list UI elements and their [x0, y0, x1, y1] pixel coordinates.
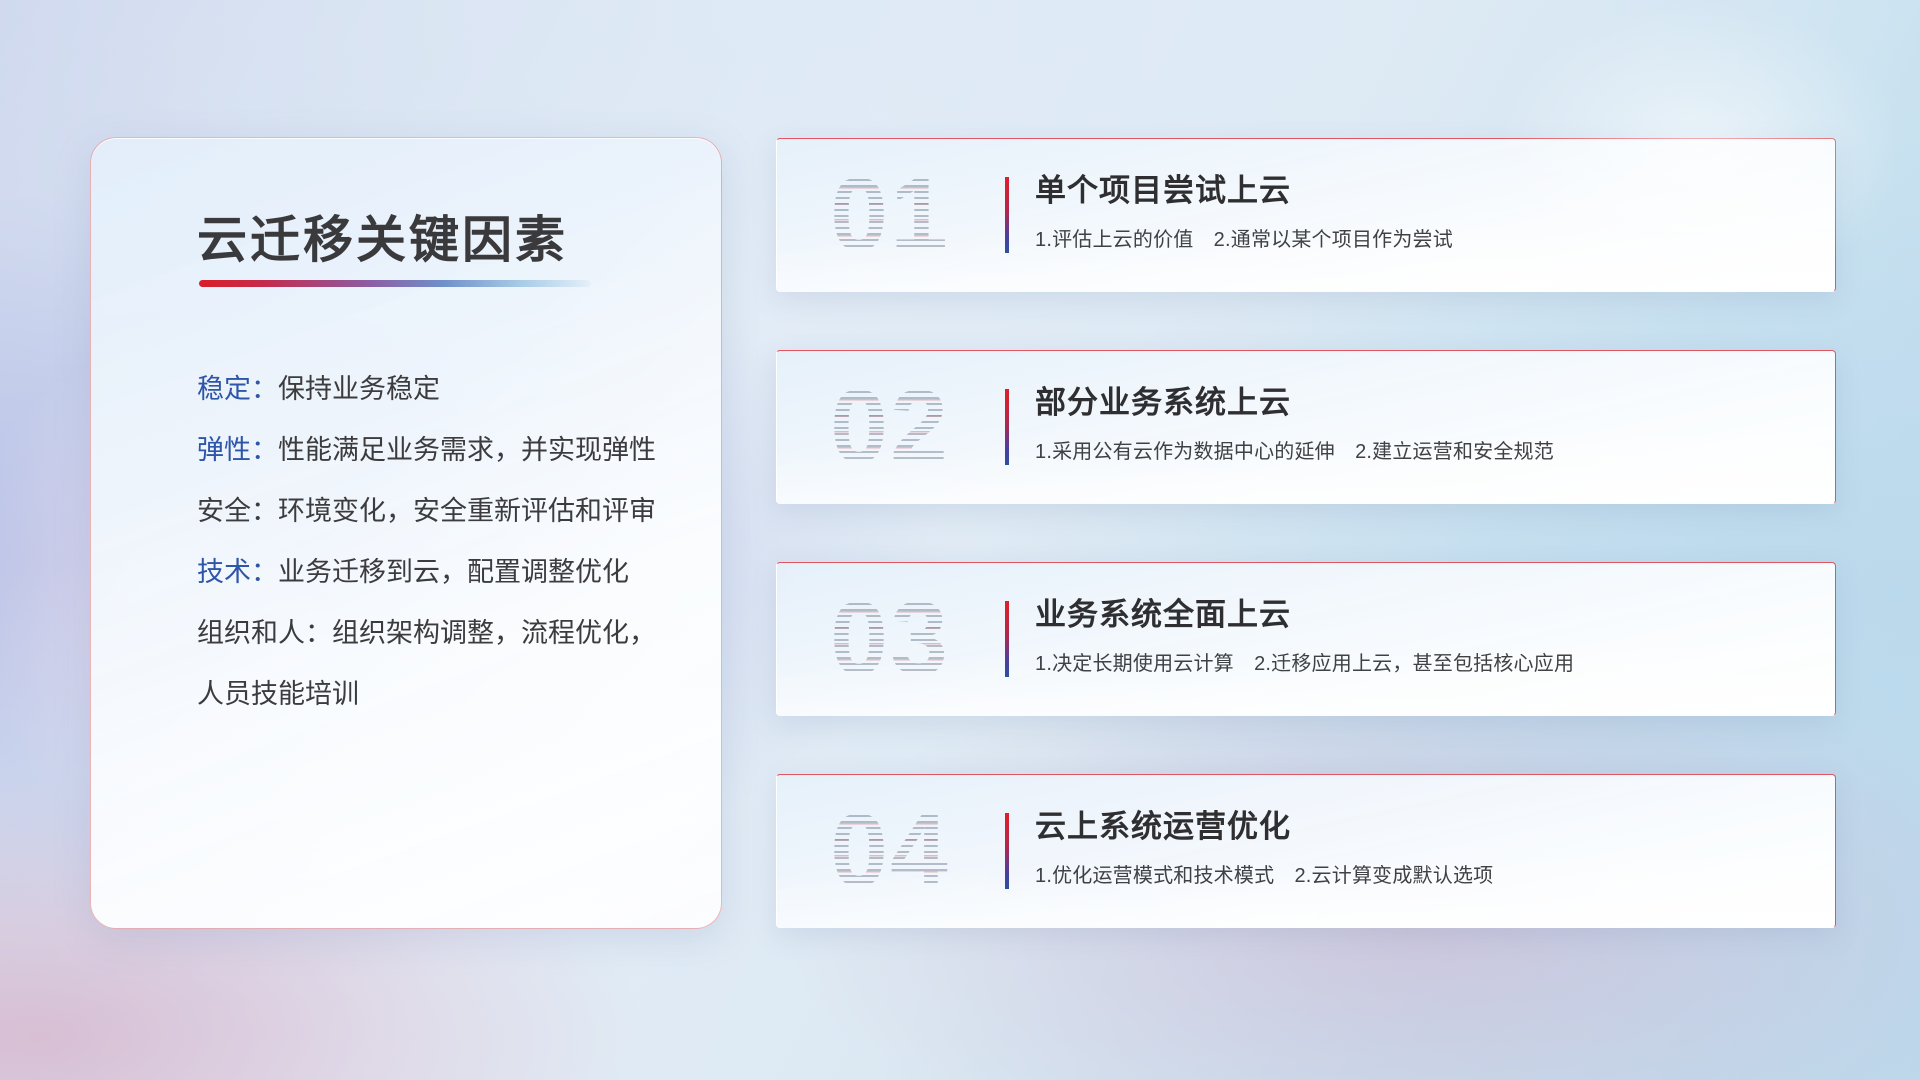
- list-item: 稳定：保持业务稳定: [197, 376, 681, 437]
- stage-subtitle: 1.评估上云的价值 2.通常以某个项目作为尝试: [1035, 223, 1453, 252]
- list-item-value: 性能满足业务需求，并实现弹性: [278, 435, 656, 465]
- list-item: 安全：环境变化，安全重新评估和评审: [197, 498, 681, 559]
- stage-number-watermark: 03: [795, 579, 985, 701]
- list-item: 组织和人：组织架构调整，流程优化，: [197, 620, 681, 681]
- list-item-continuation: 人员技能培训: [197, 681, 681, 742]
- list-item-key: 组织和人：: [197, 618, 332, 648]
- stage-card[interactable]: 04 04 云上系统运营优化 1.优化运营模式和技术模式 2.云计算变成默认选项: [776, 774, 1836, 928]
- stage-number-watermark: 01: [795, 155, 985, 277]
- stage-number-watermark: 04: [795, 791, 985, 913]
- list-item-value: 组织架构调整，流程优化，: [332, 618, 656, 648]
- list-item-value: 环境变化，安全重新评估和评审: [278, 496, 656, 526]
- page-title: 云迁移关键因素: [197, 200, 568, 272]
- list-item-key: 安全：: [197, 496, 278, 526]
- key-factors-list: 稳定：保持业务稳定 弹性：性能满足业务需求，并实现弹性 安全：环境变化，安全重新…: [197, 376, 681, 742]
- stage-card[interactable]: 02 02 部分业务系统上云 1.采用公有云作为数据中心的延伸 2.建立运营和安…: [776, 350, 1836, 504]
- stage-card[interactable]: 01 01 单个项目尝试上云 1.评估上云的价值 2.通常以某个项目作为尝试: [776, 138, 1836, 292]
- stage-title: 业务系统全面上云: [1035, 589, 1291, 634]
- list-item-key: 弹性：: [197, 435, 278, 465]
- stage-subtitle: 1.采用公有云作为数据中心的延伸 2.建立运营和安全规范: [1035, 435, 1554, 464]
- card-accent-bar: [1005, 813, 1009, 889]
- card-accent-bar: [1005, 389, 1009, 465]
- list-item: 技术：业务迁移到云，配置调整优化: [197, 559, 681, 620]
- list-item: 弹性：性能满足业务需求，并实现弹性: [197, 437, 681, 498]
- list-item-value: 保持业务稳定: [278, 374, 440, 404]
- list-item-value: 人员技能培训: [197, 679, 359, 709]
- list-item-value: 业务迁移到云，配置调整优化: [278, 557, 629, 587]
- card-accent-bar: [1005, 601, 1009, 677]
- stage-subtitle: 1.决定长期使用云计算 2.迁移应用上云，甚至包括核心应用: [1035, 647, 1574, 676]
- list-item-key: 技术：: [197, 557, 278, 587]
- list-item-key: 稳定：: [197, 374, 278, 404]
- stage-title: 部分业务系统上云: [1035, 377, 1291, 422]
- stage-subtitle: 1.优化运营模式和技术模式 2.云计算变成默认选项: [1035, 859, 1493, 888]
- stage-card[interactable]: 03 03 业务系统全面上云 1.决定长期使用云计算 2.迁移应用上云，甚至包括…: [776, 562, 1836, 716]
- stage-title: 单个项目尝试上云: [1035, 165, 1291, 210]
- stage-number-watermark: 02: [795, 367, 985, 489]
- stage-title: 云上系统运营优化: [1035, 801, 1291, 846]
- card-accent-bar: [1005, 177, 1009, 253]
- stage-card-list: 01 01 单个项目尝试上云 1.评估上云的价值 2.通常以某个项目作为尝试 0…: [776, 138, 1836, 986]
- key-factors-panel: 云迁移关键因素 稳定：保持业务稳定 弹性：性能满足业务需求，并实现弹性 安全：环…: [90, 137, 722, 929]
- title-underline-accent: [199, 280, 591, 287]
- slide-canvas: 云迁移关键因素 稳定：保持业务稳定 弹性：性能满足业务需求，并实现弹性 安全：环…: [0, 0, 1920, 1080]
